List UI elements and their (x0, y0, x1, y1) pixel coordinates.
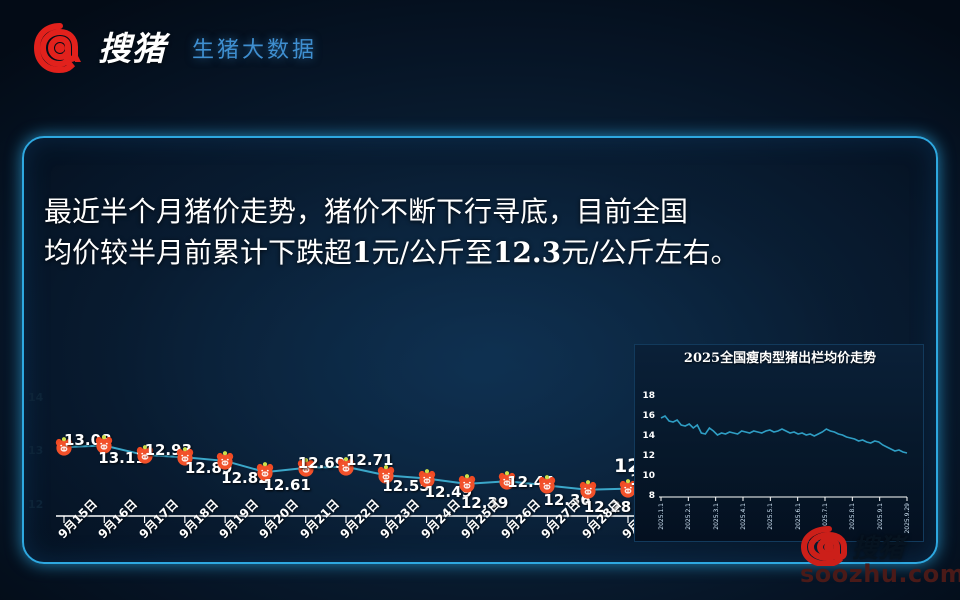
y-axis-tick: 12 (28, 498, 43, 511)
brand-logo[interactable]: 搜猪 生猪大数据 (34, 22, 317, 74)
headline-line-2: 均价较半月前累计下跌超1元/公斤至12.3元/公斤左右。 (44, 233, 944, 274)
inset-x-axis-tick: 2025.5.1 (767, 503, 774, 530)
inset-x-axis-tick: 2025.4.1 (740, 503, 747, 530)
headline-l2-drop: 1 (352, 236, 371, 269)
inset-x-axis-tick: 2025.2.1 (685, 503, 692, 530)
inset-y-axis-tick: 16 (637, 411, 655, 421)
brand-tagline: 生猪大数据 (192, 32, 317, 64)
headline-l2-c: 元/公斤至 (372, 236, 493, 269)
main-price-chart: 14131213.089月15日13.119月16日12.939月17日12.8… (28, 340, 648, 590)
inset-x-axis-tick: 2025.1.1 (658, 503, 665, 530)
watermark: 搜猪 soozhu.com (800, 524, 960, 594)
headline-l2-price: 12.3 (493, 236, 561, 269)
inset-y-axis-tick: 18 (637, 391, 655, 401)
soozhu-logo-icon (34, 22, 86, 74)
inset-chart-title: 2025全国瘦肉型猪出栏均价走势 (635, 351, 925, 368)
inset-x-axis-tick: 2025.3.1 (713, 503, 720, 530)
page-header: 搜猪 生猪大数据 (0, 0, 960, 100)
brand-name: 搜猪 (98, 32, 166, 65)
inset-y-axis-tick: 8 (637, 491, 655, 501)
headline-l2-e: 元/公斤左右。 (561, 236, 738, 269)
y-axis-tick: 14 (28, 391, 43, 404)
headline-line-1: 最近半个月猪价走势，猪价不断下行寻底，目前全国 (44, 192, 944, 233)
pig-head-icon (456, 473, 478, 495)
inset-y-axis-tick: 10 (637, 471, 655, 481)
inset-y-axis-tick: 12 (637, 451, 655, 461)
inset-y-axis-tick: 14 (637, 431, 655, 441)
headline-text: 最近半个月猪价走势，猪价不断下行寻底，目前全国 均价较半月前累计下跌超1元/公斤… (44, 192, 944, 273)
headline-l2-a: 均价较半月前累计下跌超 (44, 236, 352, 269)
y-axis-tick: 13 (28, 444, 43, 457)
watermark-url: soozhu.com (800, 560, 960, 588)
inset-yearly-chart: 2025全国瘦肉型猪出栏均价走势 181614121082025.1.12025… (634, 344, 924, 542)
